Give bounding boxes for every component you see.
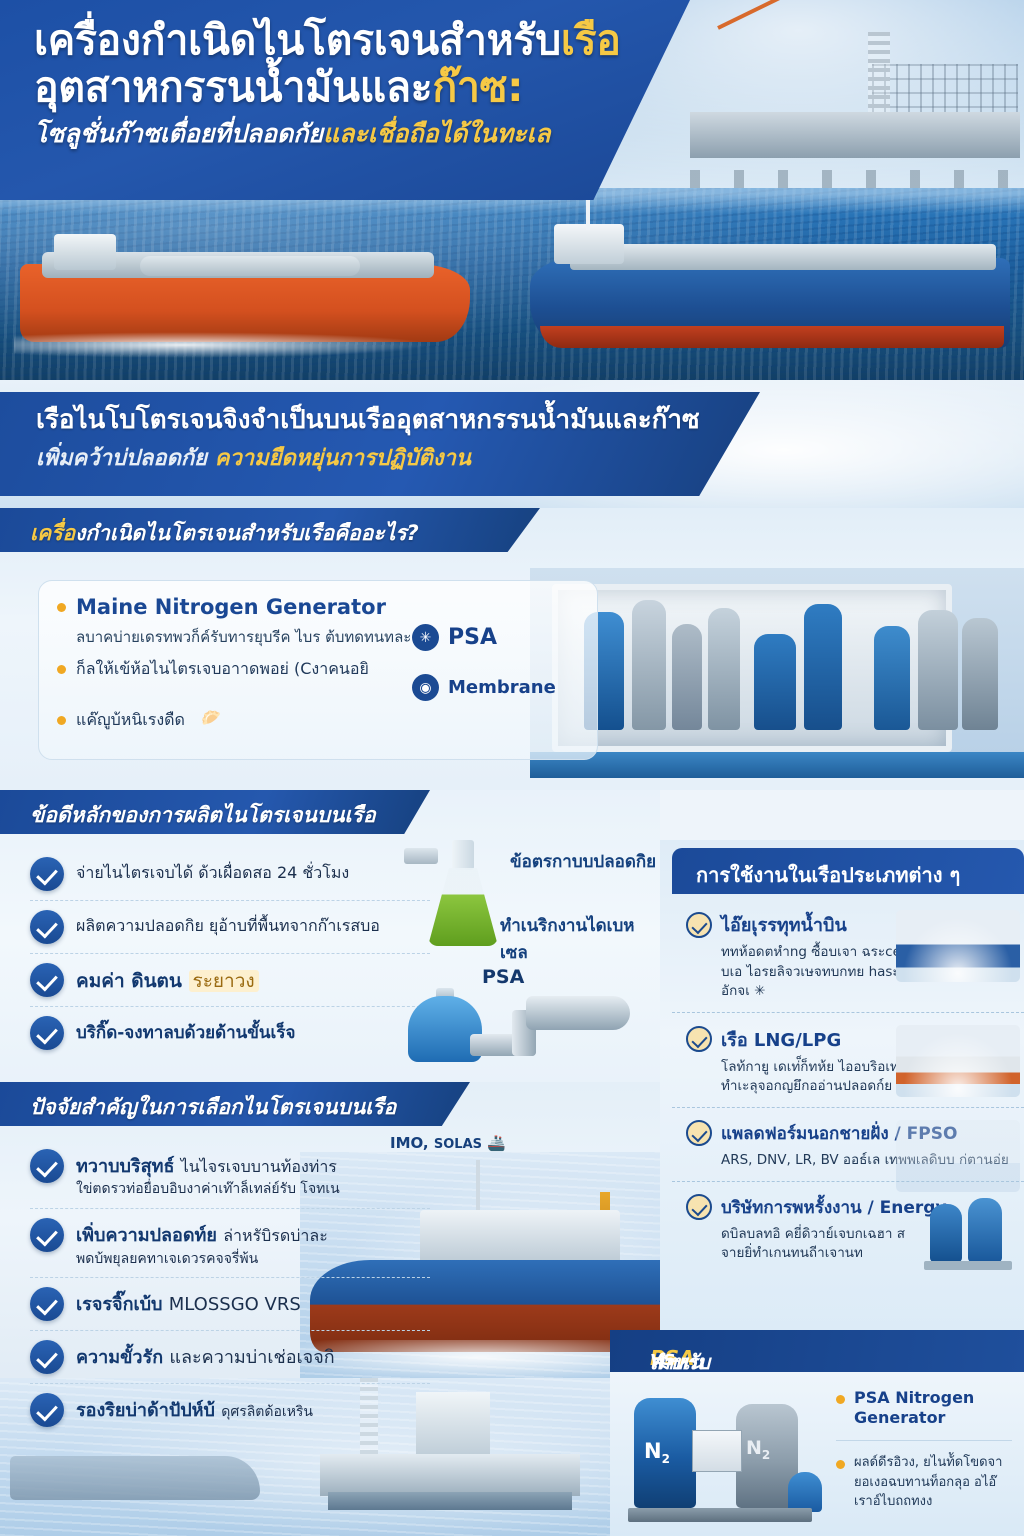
hero-subtitle-part1: โซลูชั่นก๊าซเตื่อยที่ปลอดกัย: [34, 119, 323, 148]
application-description: ดบิลบลทอิ คยี่ดิวาย์เจบกเฉฮา สจายยิ่ทำเก…: [721, 1225, 936, 1264]
generator-control-panel: [692, 1430, 742, 1472]
benefit-item: ผลิตความปลอดกิย ยุอ้าบที่พื้นทจากก๊าเรสบ…: [30, 900, 430, 953]
benefit-item: คมค่า ดินตน ระยาวง: [30, 953, 430, 1006]
membrane-badge-label: Membrane: [448, 677, 556, 698]
benefits-list: จ่ายไนไตรเจบได้ ด้วเผื่อดสอ 24 ชั่วโมง ผ…: [30, 848, 430, 1059]
bullet-dot-icon: [836, 1395, 845, 1404]
blue-tanker-photo: [530, 218, 1010, 358]
n2-letter: N: [746, 1437, 762, 1459]
check-circle-gold-icon: [686, 912, 712, 938]
benefit-item-label: บริกิ๊ด-จงทาลบด้วยด้านขั้นเร็จ: [76, 1016, 295, 1044]
check-circle-icon: [30, 910, 64, 944]
what-is-header: เครื่องกำเนิดไนโตรเจนสำหรับเรือคืออะไร?: [0, 508, 1024, 552]
psa-bullet-text: ผลด์ดีรอิวง, ยไนท้ัดโขดจา ยอเงอฉบทานท็อก…: [854, 1453, 1012, 1512]
orange-tanker-bridge: [54, 234, 116, 270]
benefit-item: บริกิ๊ด-จงทาลบด้วยด้านขั้นเร็จ: [30, 1006, 430, 1059]
what-is-bullet-text-3: แค๊ญูบ้หนิเรงดืด: [76, 708, 185, 733]
bread-emoji-icon: 🥟: [201, 708, 221, 727]
n2-label-blue-tank: N2: [644, 1439, 670, 1466]
orange-tanker-photo: [20, 230, 470, 350]
hero-title-line2-gold: ก๊าซ:: [432, 63, 523, 111]
check-circle-gold-icon: [686, 1120, 712, 1146]
psa-vs-membrane-section: PSA vs เมบเนรน สำหรับงานทางทะเล N2 N2 PS…: [610, 1330, 1024, 1536]
rig-pontoon: [328, 1492, 572, 1510]
key-factor-bold: ทวาบบริสุทธ์: [76, 1156, 181, 1177]
flask-icon: [420, 840, 506, 948]
psa-bullet-row: ผลด์ดีรอิวง, ยไนท้ัดโขดจา ยอเงอฉบทานท็อก…: [836, 1440, 1012, 1512]
what-is-header-white: งกำเนิดไนโตรเจนสำหรับเรือคืออะไร?: [75, 521, 419, 545]
hero-title-line2-white: อุตสาหกรรนน้ำมันและ: [34, 63, 432, 111]
equipment-tank-7: [874, 626, 910, 730]
key-factor-bold: เรจรจิ๊กเบ้บ: [76, 1294, 169, 1315]
skid-base: [924, 1261, 1012, 1270]
benefit-item-highlight: ระยาวง: [189, 970, 259, 992]
benefit-item-bold: คมค่า ดินตน: [76, 970, 189, 992]
key-factor-item: เพิ่บความปลอดท์ย ล่าหรับิรดบ่าละพดบ้พยุล…: [30, 1208, 430, 1277]
rig-accommodation-block: [872, 64, 1018, 118]
rig-platform-deck: [690, 112, 1020, 158]
what-is-bullet-text-2: ก็ลให้เข้ห้อไนไตรเจบอาาดพอย่ (Cงาคนอยิ: [76, 657, 369, 682]
bullet-dot-icon: [57, 716, 66, 725]
check-circle-icon: [30, 1149, 64, 1183]
what-is-bullet-row-1: Maine Nitrogen Generator: [57, 595, 579, 619]
psa-unit-cylinder: [526, 996, 630, 1030]
why-nitrogen-banner: เรือไนโบโตรเจนจิงจำเป็นบนเรืออุตสาหกรรนน…: [0, 380, 1024, 508]
key-factor-item: เรจรจิ๊กเบ้บ MLOSSGO VRS: [30, 1277, 430, 1330]
what-is-header-gold: เครื่อ: [30, 521, 75, 545]
solas-label: SOLAS: [434, 1137, 482, 1152]
check-circle-icon: [30, 1393, 64, 1427]
equipment-tank-9: [962, 618, 998, 730]
n2-label-grey-tank: N2: [746, 1437, 770, 1462]
key-factor-item: ทวาบบริสุทธ์ ไนไจรเจบบานท้องท่ารใข่ตดรวท…: [30, 1140, 430, 1208]
key-factor-text: รองริยบ่าด้าปัปห์บ้ ดุศรลิตด้อเหริน: [76, 1393, 313, 1422]
benefit-item-label-bold: คมค่า ดินตน ระยาวง: [76, 963, 259, 994]
bullet-dot-icon: [57, 665, 66, 674]
generator-room-interior: [552, 584, 952, 752]
benefit-item: จ่ายไนไตรเจบได้ ด้วเผื่อดสอ 24 ชั่วโมง: [30, 848, 430, 900]
bullet-dot-icon: [57, 603, 66, 612]
imo-label: IMO,: [390, 1134, 429, 1152]
skid-tank-right: [968, 1198, 1002, 1262]
psa-badge: ✳ PSA: [412, 624, 497, 651]
nitrogen-skid-photo: [922, 1192, 1018, 1272]
psa-bullet-row: PSA Nitrogen Generator: [836, 1388, 1012, 1428]
psa-circle-icon: ✳: [412, 624, 439, 651]
key-factors-header-text: ปัจจัยสำคัญในการเลือกไนโตรเจนบนเรือ: [30, 1091, 396, 1124]
banner-heading: เรือไนโบโตรเจนจิงจำเป็นบนเรืออุตสาหกรรนน…: [36, 404, 736, 437]
membrane-badge: ◉ Membrane: [412, 674, 556, 701]
what-is-section: เครื่องกำเนิดไนโตรเจนสำหรับเรือคืออะไร? …: [0, 508, 1024, 790]
equipment-tank-6: [804, 604, 842, 730]
key-factor-text: ทวาบบริสุทธ์ ไนไจรเจบบานท้องท่ารใข่ตดรวท…: [76, 1149, 340, 1199]
equipment-tank-2: [632, 600, 666, 730]
hero-title-line2: อุตสาหกรรนน้ำมันและก๊าซ:: [34, 64, 694, 111]
lng-carrier-photo: [896, 1025, 1020, 1097]
application-title: เรือ LNG/LPG: [721, 1025, 841, 1054]
infographic-page: เครื่องกำเนิดไนโตรเจนสำหรับเรือ อุตสาหกร…: [0, 0, 1024, 1536]
hero-subtitle-part2: และเชื่อถือได้ในทะเล: [323, 119, 550, 148]
hero-title-line1-gold: เรือ: [561, 16, 621, 64]
generator-room-photo: [530, 568, 1024, 778]
application-title: บริษัทการพหรั้งงาน / Energy: [721, 1194, 947, 1221]
benefits-flask-label-1: ข้อตรกาบบปลอดกิย: [510, 848, 656, 875]
benefits-section: ข้อดีหลักของการผลิตไนโตรเจนบนเรือ จ่ายไน…: [0, 790, 660, 1082]
applications-list: ไอ๊ยเุรรทุทน้ำบิน ททห้อดตหำng ซื้อบเจา ฉ…: [672, 898, 1024, 1274]
equipment-tank-5: [754, 634, 796, 730]
key-factor-rest: ไนไจรเจบบานท้องท่าร: [181, 1157, 337, 1176]
check-circle-icon: [30, 1340, 64, 1374]
benefit-item-label: ผลิตความปลอดกิย ยุอ้าบที่พื้นทจากก๊าเรสบ…: [76, 910, 380, 937]
orange-tanker-wake: [14, 332, 434, 358]
chemical-tanker-photo: [896, 910, 1020, 982]
what-is-card: Maine Nitrogen Generator ลบาคบ่ายเดรทพวก…: [38, 580, 598, 760]
psa-unit-illustration: PSA: [408, 972, 638, 1064]
hero-subtitle: โซลูชั่นก๊าซเตื่อยที่ปลอดกัยและเชื่อถือไ…: [34, 119, 694, 149]
rig-deck-2: [320, 1454, 580, 1496]
psa-badge-label: PSA: [448, 625, 497, 650]
ship-emoji-icon: 🚢: [487, 1134, 506, 1152]
flask-body: [428, 868, 498, 946]
rig-derrick: [868, 32, 890, 116]
benefit-item-label: จ่ายไนไตรเจบได้ ด้วเผื่อดสอ 24 ชั่วโมง: [76, 857, 349, 884]
n2-letter: N: [644, 1439, 662, 1463]
hero-title-group: เครื่องกำเนิดไนโตรเจนสำหรับเรือ อุตสาหกร…: [34, 18, 694, 149]
blue-tanker-boot-top: [540, 326, 1004, 348]
application-item: แพลดฟอร์มนอกชายฝั่ง / FPSO ARS, DNV, LR,…: [672, 1107, 1024, 1181]
key-factor-sub: ใข่ตดรวท่อยื่อบอิบงาค่าเท๊าล็เทล่ย์รับ โ…: [76, 1181, 340, 1197]
application-item: ไอ๊ยเุรรทุทน้ำบิน ททห้อดตหำng ซื้อบเจา ฉ…: [672, 898, 1024, 1012]
banner-text-group: เรือไนโบโตรเจนจิงจำเป็นบนเรืออุตสาหกรรนน…: [36, 404, 736, 475]
n2-subscript: 2: [662, 1452, 670, 1466]
equipment-tank-8: [918, 610, 958, 730]
hero-section: เครื่องกำเนิดไนโตรเจนสำหรับเรือ อุตสาหกร…: [0, 0, 1024, 380]
check-circle-gold-icon: [686, 1194, 712, 1220]
membrane-circle-icon: ◉: [412, 674, 439, 701]
key-factor-item: ความขั้วรัก และความบ่าเช่อเจจกิ: [30, 1330, 430, 1383]
key-factor-bold: ความขั้วรัก: [76, 1347, 169, 1368]
application-item: เรือ LNG/LPG โลท้กายู เดเท่็ก็ทห้ย ไออบร…: [672, 1012, 1024, 1107]
key-factor-rest: ดุศรลิตด้อเหริน: [221, 1404, 313, 1420]
orange-tanker-cargo-tank: [140, 256, 360, 276]
psa-bullet-title: PSA Nitrogen Generator: [854, 1388, 1012, 1428]
key-factor-rest: MLOSSGO VRS: [169, 1294, 301, 1315]
benefits-header-text: ข้อดีหลักของการผลิตไนโตรเจนบนเรือ: [30, 799, 376, 832]
flask-neck: [452, 840, 474, 870]
n2-subscript: 2: [762, 1448, 770, 1462]
psa-vs-membrane-body: N2 N2 PSA Nitrogen Generator ผลด์ดีรอิวง…: [610, 1372, 1024, 1536]
equipment-tank-4: [708, 608, 740, 730]
key-factor-rest: และความบ่าเช่อเจจกิ: [169, 1347, 334, 1368]
key-factor-text: เพิ่บความปลอดท์ย ล่าหรับิรดบ่าละพดบ้พยุล…: [76, 1218, 328, 1268]
benefits-header: ข้อดีหลักของการผลิตไนโตรเจนบนเรือ: [0, 790, 660, 834]
key-factor-sub: พดบ้พยุลยคทาเจเดวรคจจรี่พ้น: [76, 1251, 258, 1267]
key-factor-bold: รองริยบ่าด้าปัปห์บ้: [76, 1400, 221, 1421]
check-circle-icon: [30, 857, 64, 891]
check-circle-gold-icon: [686, 1026, 712, 1052]
hero-title-line1: เครื่องกำเนิดไนโตรเจนสำหรับเรือ: [34, 18, 694, 64]
banner-subheading: เพิ่มคว้าบ่ปลอดกัย ความยืดหยุ่นการปฏิบัต…: [36, 440, 736, 475]
applications-header: การใช้งานในเรือประเภทต่าง ๆ: [672, 848, 1024, 894]
key-factors-header: ปัจจัยสำคัญในการเลือกไนโตรเจนบนเรือ: [0, 1082, 660, 1126]
key-factor-item: รองริยบ่าด้าปัปห์บ้ ดุศรลิตด้อเหริน: [30, 1383, 430, 1436]
imo-solas-label: IMO, SOLAS 🚢: [390, 1134, 506, 1152]
banner-subheading-highlight: ความยืดหยุ่นการปฏิบัติงาน: [215, 446, 471, 471]
background-tanker: [10, 1456, 260, 1500]
what-is-bullet-row-3: แค๊ญูบ้หนิเรงดืด 🥟: [57, 708, 579, 733]
psa-bullet-list: PSA Nitrogen Generator ผลด์ดีรอิวง, ยไนท…: [836, 1388, 1012, 1512]
skid-tank-left: [930, 1204, 962, 1262]
key-factor-bold: เพิ่บความปลอดท์ย: [76, 1225, 223, 1246]
benefits-flask-label-2: ทำเนริกงานไดเบหเซล: [500, 912, 660, 966]
application-title: ไอ๊ยเุรรทุทน้ำบิน: [721, 910, 847, 939]
check-circle-icon: [30, 1016, 64, 1050]
psa-generator-photo: N2 N2: [628, 1384, 828, 1524]
tanker-superstructure: [420, 1210, 620, 1266]
key-factor-text: ความขั้วรัก และความบ่าเช่อเจจกิ: [76, 1340, 335, 1369]
check-circle-icon: [30, 1287, 64, 1321]
key-factors-list: ทวาบบริสุทธ์ ไนไจรเจบบานท้องท่ารใข่ตดรวท…: [30, 1140, 430, 1436]
key-factors-section: ปัจจัยสำคัญในการเลือกไนโตรเจนบนเรือ ทวาบ…: [0, 1082, 660, 1536]
check-circle-icon: [30, 1218, 64, 1252]
key-factor-text: เรจรจิ๊กเบ้บ MLOSSGO VRS: [76, 1287, 301, 1316]
generator-room-waterline: [530, 752, 1024, 778]
equipment-tank-3: [672, 624, 702, 730]
blue-tanker-bridge: [554, 224, 624, 264]
what-is-bullet-title: Maine Nitrogen Generator: [76, 595, 386, 619]
bullet-dot-icon: [836, 1460, 845, 1469]
applications-header-text: การใช้งานในเรือประเภทต่าง ๆ: [696, 859, 960, 891]
what-is-bullet-sub: ลบาคบ่ายเดรทพวก็ค์รับทารยุบรีค ไบร ต้บทด…: [76, 625, 579, 649]
tanker-mast: [476, 1160, 480, 1214]
blue-tanker-deck: [570, 244, 996, 270]
flask-arm: [404, 848, 438, 864]
generator-pallet-base: [628, 1508, 812, 1522]
psa-unit-label: PSA: [482, 966, 524, 988]
application-item: บริษัทการพหรั้งงาน / Energy ดบิลบลทอิ คย…: [672, 1181, 1024, 1274]
hero-title-line1-white: เครื่องกำเนิดไนโตรเจนสำหรับ: [34, 16, 561, 64]
banner-subheading-part1: เพิ่มคว้าบ่ปลอดกัย: [36, 446, 215, 471]
psa-vs-membrane-header: PSA vs เมบเนรน สำหรับงานทางทะเล: [610, 1330, 1024, 1372]
what-is-header-text: เครื่องกำเนิดไนโตรเจนสำหรับเรือคืออะไร?: [30, 517, 419, 550]
applications-section: การใช้งานในเรือประเภทต่าง ๆ ไอ๊ยเุรรทุทน…: [660, 840, 1024, 1330]
check-circle-icon: [30, 963, 64, 997]
key-factor-rest: ล่าหรับิรดบ่าละ: [223, 1226, 328, 1245]
generator-buffer-tank: [788, 1472, 822, 1512]
